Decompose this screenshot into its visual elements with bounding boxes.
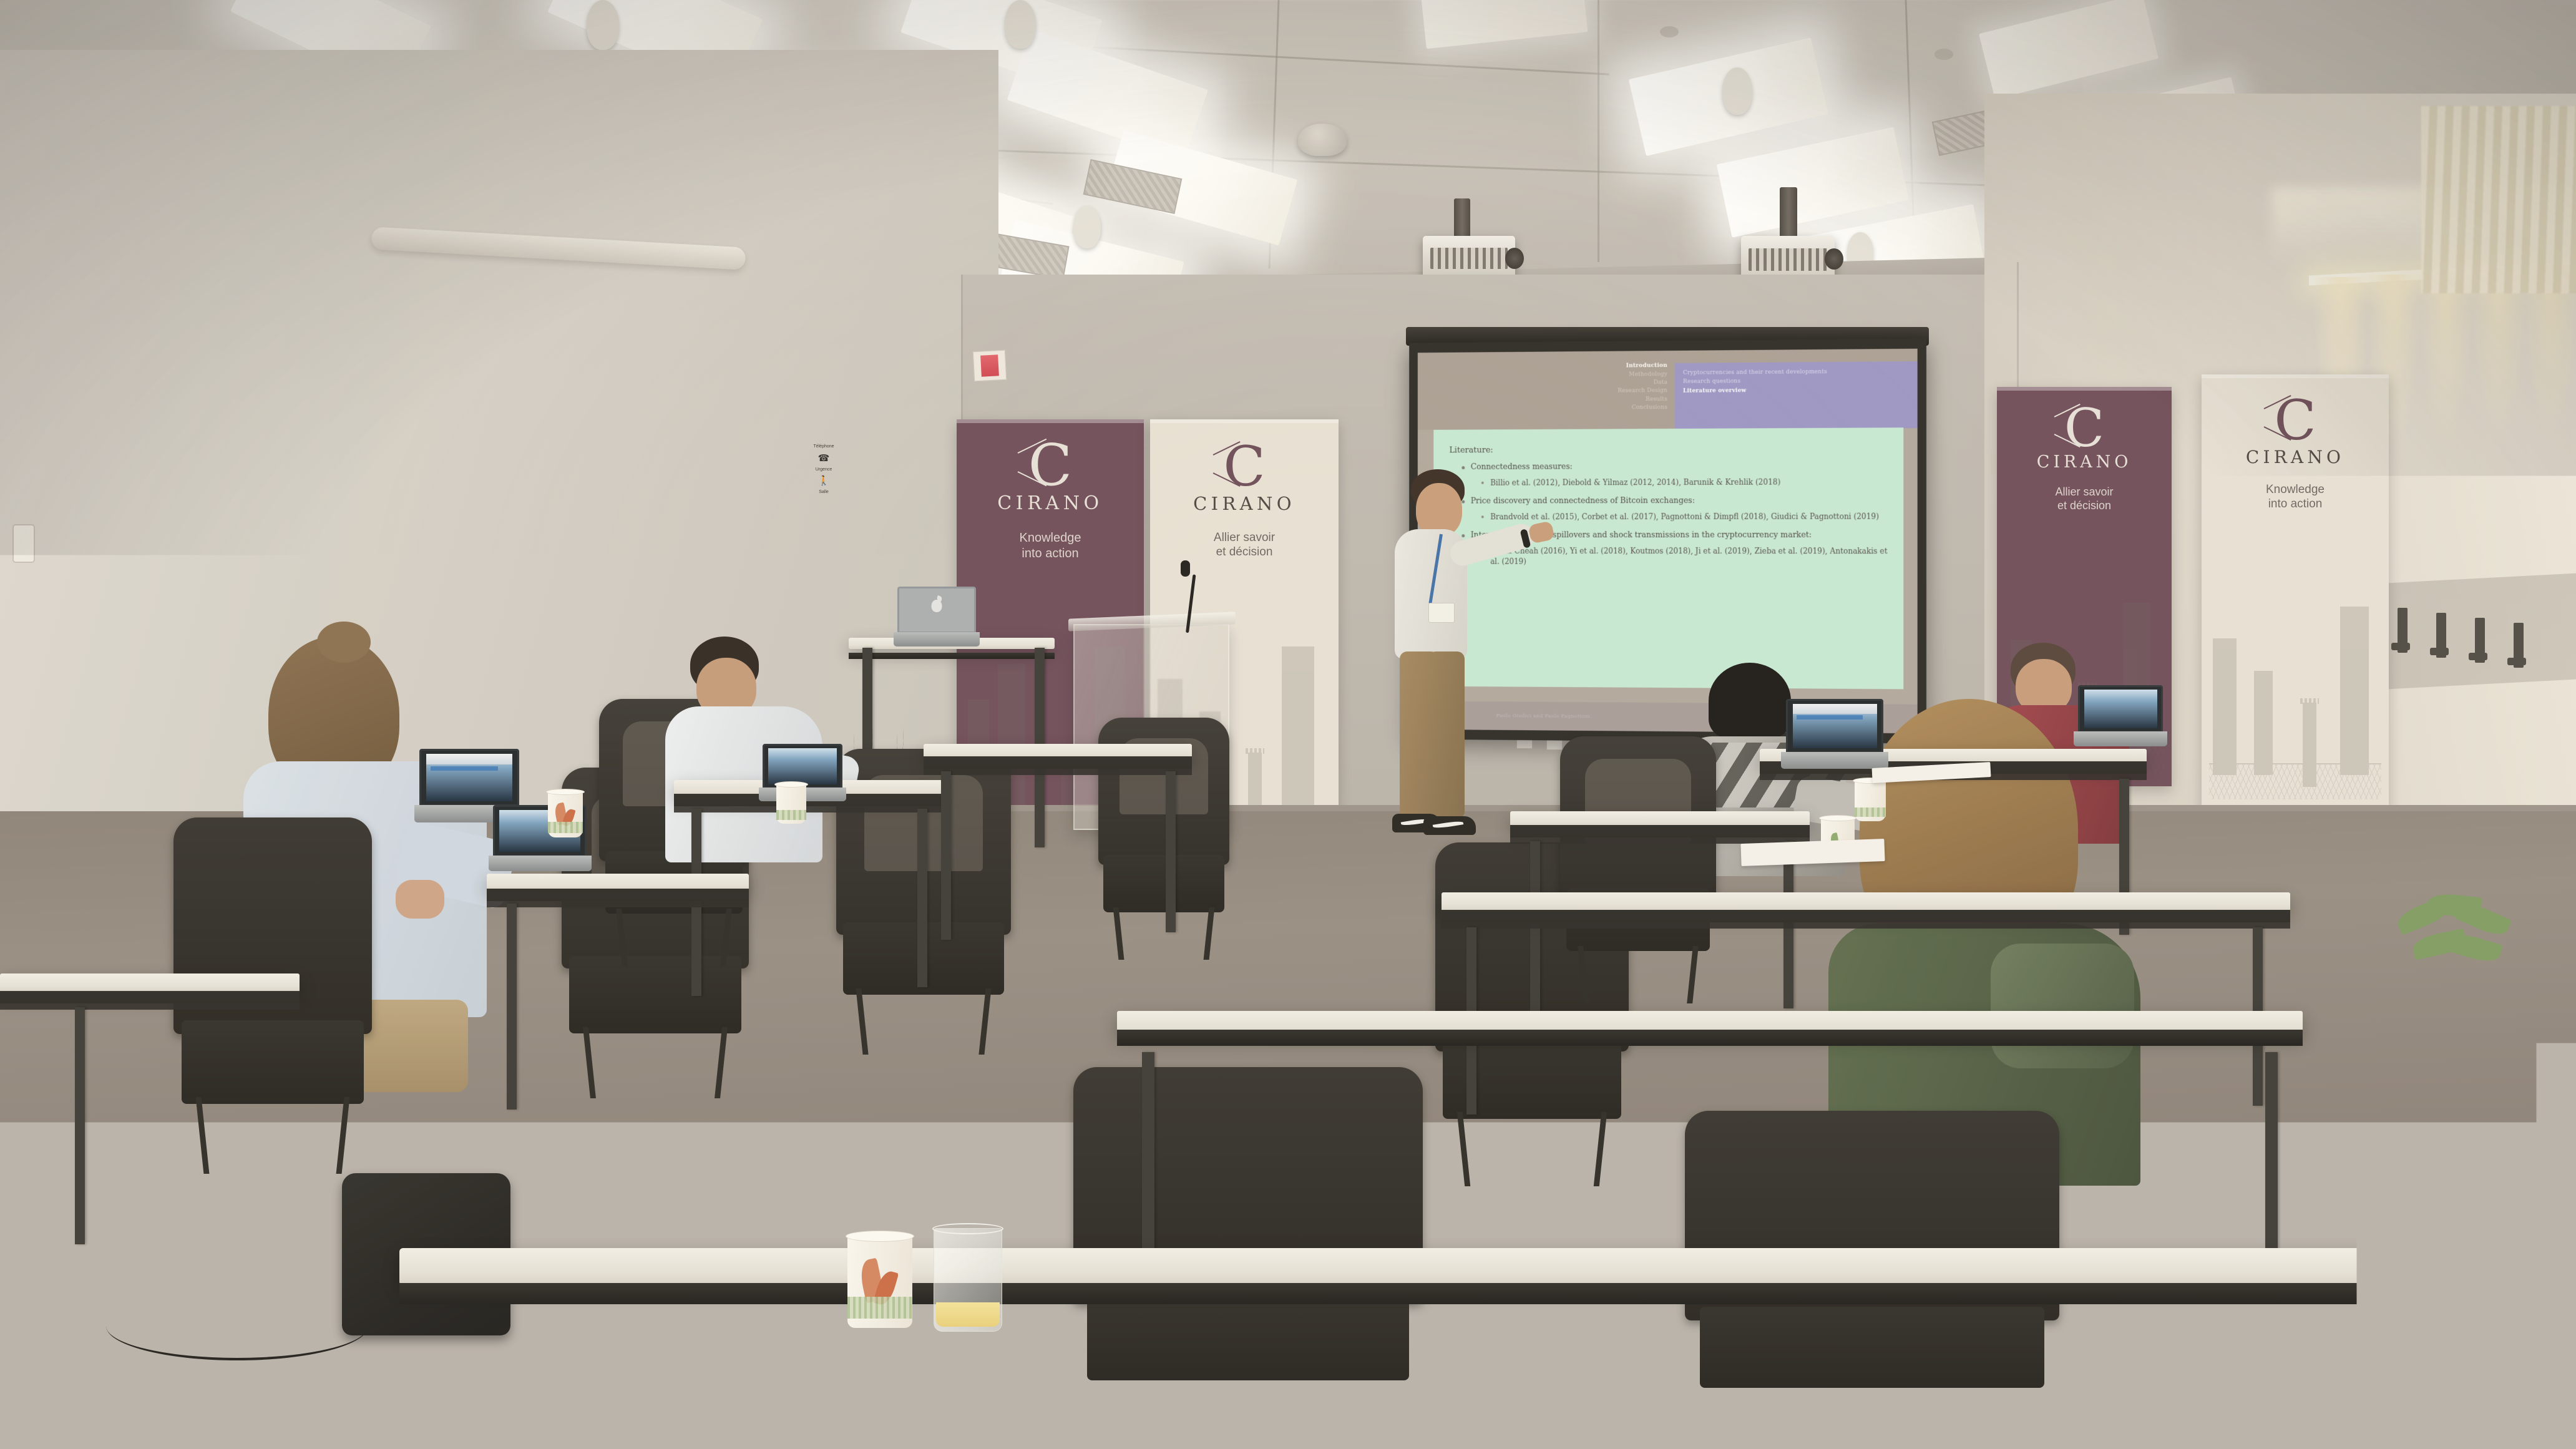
presenter <box>1382 469 1513 856</box>
table-edge <box>1117 1030 2303 1046</box>
banner-tagline-line1: Knowledge <box>957 530 1144 545</box>
banner-rail <box>1997 387 2172 391</box>
slide-nav-item-research-design: Research Design <box>1556 387 1667 396</box>
banner-rail <box>1150 419 1339 423</box>
chair-seat <box>1103 855 1224 912</box>
laptop-screen <box>426 754 513 801</box>
laptop-lid <box>1786 699 1883 753</box>
presenter-badge <box>1428 603 1455 623</box>
table-row-1-right <box>1442 892 2290 912</box>
banner-cityscape <box>2202 610 2389 811</box>
wall-sign-line-1: Téléphone <box>813 444 834 449</box>
ceiling-smoke-detector <box>1660 26 1679 37</box>
chair-legs <box>614 909 734 966</box>
table-leg <box>75 1007 85 1244</box>
ceiling-smoke-detector <box>1934 49 1953 60</box>
laptop-screen <box>2084 690 2157 728</box>
table-leg <box>1530 841 1540 1016</box>
plant-frond <box>2446 930 2503 965</box>
slide-section-nav: Introduction Methodology Data Research D… <box>1556 362 1675 412</box>
paper-cup[interactable] <box>776 784 806 824</box>
cirano-logo-swoosh <box>2264 395 2291 409</box>
foreground-plate[interactable] <box>1026 1303 1263 1385</box>
laptop-screen <box>768 748 837 784</box>
laptop-screen <box>1793 704 1877 749</box>
cirano-logo-icon: C <box>1223 443 1265 490</box>
pendant-bulb <box>1722 67 1752 115</box>
floor-speck <box>1498 1186 1504 1192</box>
thermostat[interactable] <box>12 524 35 563</box>
apple-logo-icon <box>932 600 942 612</box>
table-foreground <box>399 1248 2396 1286</box>
table-leg <box>2265 1052 2278 1258</box>
exit-sign-glyph <box>980 354 999 376</box>
cirano-logo-swoosh <box>2264 426 2291 441</box>
pendant-bulb <box>587 0 619 50</box>
projector-mount <box>1780 187 1797 238</box>
table-apron <box>1442 912 2290 929</box>
banner-tagline-line2: into action <box>2202 497 2389 511</box>
chair-legs <box>580 1027 730 1098</box>
slide-bullet-l2: Billio et al. (2012), Diebold & Yilmaz (… <box>1481 477 1888 489</box>
paper-cup[interactable] <box>1855 780 1886 821</box>
table-row-3-left <box>924 744 1192 759</box>
attendee-laptop-5[interactable] <box>2078 685 2163 746</box>
exit-sign <box>973 350 1007 382</box>
banner-rail <box>957 419 1144 423</box>
chair-seat <box>182 1020 364 1104</box>
chair-legs <box>1576 946 1700 1003</box>
city-building <box>2340 607 2369 775</box>
table-leg <box>1142 1052 1154 1277</box>
window-blinds <box>2421 106 2576 293</box>
table-leg <box>1166 771 1176 932</box>
presenter-macbook[interactable] <box>897 587 976 646</box>
table-apron <box>1510 827 1810 844</box>
ceiling-grid-line <box>1598 0 1599 262</box>
projector-vent <box>1749 248 1827 271</box>
cup-rim <box>546 789 585 795</box>
laptop-base <box>2074 731 2167 746</box>
laptop-base <box>894 632 980 646</box>
slide-bullet-l2: Fry & Cheah (2016), Yi et al. (2018), Ko… <box>1481 546 1888 568</box>
microphone-head[interactable] <box>1181 560 1190 577</box>
cup-band <box>847 1297 912 1319</box>
wall-sign-line-3: Salle <box>819 490 829 495</box>
light-pool <box>2417 272 2475 447</box>
cirano-logo-icon: C <box>1028 441 1072 490</box>
chair-seat <box>1700 1307 2044 1388</box>
laptop-base <box>1781 752 1888 769</box>
cirano-logo-swoosh <box>1017 439 1046 454</box>
juice-liquid <box>936 1302 1000 1327</box>
jacques-cartier-bridge <box>2209 763 2381 799</box>
cup-rim <box>1819 815 1856 821</box>
projector-lens <box>1505 248 1524 269</box>
cup-band <box>1855 807 1886 817</box>
chair-legs <box>1111 907 1216 960</box>
phone-icon: ☎ <box>818 454 830 463</box>
chair-legs <box>193 1097 352 1174</box>
foreground-plastic-cup[interactable] <box>934 1228 1002 1332</box>
banner-tagline-line1: Knowledge <box>2202 482 2389 497</box>
coat-hook[interactable] <box>2514 623 2524 668</box>
light-pool <box>2470 268 2527 443</box>
attendee-shoulder <box>1991 944 2134 1068</box>
cirano-logo-swoosh <box>1213 472 1241 487</box>
slide-nav-item-data: Data <box>1556 379 1667 388</box>
attendee-hand <box>396 880 444 919</box>
maple-leaf-icon <box>1184 1358 1198 1369</box>
slide-subsection-nav: Cryptocurrencies and their recent develo… <box>1675 361 1918 429</box>
banner-tagline-line2: et décision <box>1997 499 2172 513</box>
table-leg <box>507 904 517 1110</box>
chair-back <box>1098 718 1229 865</box>
table-row-1-left <box>487 874 749 891</box>
slide-bullet-l1: Connectedness measures: <box>1461 461 1888 472</box>
slide-bullet-l2: Brandvold et al. (2015), Corbet et al. (… <box>1481 511 1888 522</box>
cup-band <box>776 810 806 819</box>
coat-hook[interactable] <box>2475 618 2485 663</box>
cup-band <box>548 822 583 833</box>
pendant-bulb <box>1073 206 1101 248</box>
cirano-logo-icon: C <box>2064 406 2104 451</box>
slide-nav-item-results: Results <box>1556 396 1667 404</box>
banner-right-cream: C CIRANO Knowledge into action <box>2202 374 2389 811</box>
person-icon: 🚶 <box>818 476 830 485</box>
presenter-shoe <box>1423 816 1476 835</box>
cup-rim <box>774 781 808 788</box>
cup-rim <box>846 1231 914 1242</box>
city-building <box>2254 671 2273 775</box>
paper-cup[interactable] <box>548 791 583 837</box>
laptop-lid <box>2078 685 2163 733</box>
cup-rim <box>932 1223 1003 1234</box>
table-apron <box>487 891 749 907</box>
laptop-lid <box>419 749 519 806</box>
banner-tagline-line2: into action <box>957 546 1144 561</box>
banner-tagline-line1: Allier savoir <box>1150 530 1339 545</box>
ceiling-speaker-dome <box>1298 124 1347 156</box>
city-building <box>1282 646 1314 826</box>
table-leg <box>941 771 951 940</box>
attendee-laptop-4[interactable] <box>1786 699 1883 769</box>
attendee-beanie-hat <box>1709 663 1791 739</box>
potted-plant <box>2390 892 2534 992</box>
table-apron <box>0 993 300 1010</box>
cirano-logo-swoosh <box>1213 441 1241 456</box>
cirano-logo-swoosh <box>1017 471 1046 486</box>
table-row-2-right <box>1510 811 1810 827</box>
projector-mount <box>1454 198 1470 238</box>
city-building <box>2213 638 2237 775</box>
table-edge <box>399 1283 2396 1304</box>
cirano-logo-icon: C <box>2274 397 2316 444</box>
chair-legs <box>1455 1112 1609 1186</box>
table-mid-right <box>1117 1011 2303 1036</box>
slide-nav-item-conclusions: Conclusions <box>1556 404 1667 412</box>
coat-hook[interactable] <box>2398 608 2408 653</box>
chair[interactable] <box>1560 736 1716 998</box>
wall-safety-sign: Téléphone ☎ Urgence 🚶 Salle <box>802 444 846 538</box>
slide-nav-item-introduction: Introduction <box>1556 362 1667 371</box>
chair-seat <box>569 956 741 1034</box>
table-leg <box>917 809 927 987</box>
projector-lens <box>1825 248 1843 270</box>
wall-sign-line-2: Urgence <box>816 467 832 472</box>
cirano-logo-swoosh <box>2054 434 2081 447</box>
banner-tagline-line2: et décision <box>1150 545 1339 559</box>
attendee-hair-bun <box>317 622 371 663</box>
slide-body-title: Literature: <box>1449 444 1888 456</box>
cirano-logo-swoosh <box>2054 404 2081 417</box>
banner-rail <box>2202 374 2389 378</box>
chair-legs <box>854 988 993 1055</box>
conference-room-photo: Téléphone ☎ Urgence 🚶 Salle Introduction… <box>0 0 2576 1449</box>
laptop-lid <box>897 587 976 633</box>
foreground-paper-cup[interactable] <box>847 1236 912 1328</box>
slide-nav-item-methodology: Methodology <box>1556 371 1667 380</box>
slide-subnav-item-literature-overview: Literature overview <box>1683 385 1918 396</box>
table-apron <box>924 759 1192 775</box>
presenter-leg <box>1428 651 1465 819</box>
projector-vent <box>1430 248 1508 270</box>
nike-swoosh-icon <box>1433 820 1463 829</box>
pendant-bulb <box>1005 0 1036 49</box>
table-far-left <box>0 973 300 993</box>
slide-bullet-l1: Price discovery and connectedness of Bit… <box>1461 495 1888 506</box>
laptop-base <box>489 856 592 871</box>
coat-hook[interactable] <box>2436 613 2446 658</box>
banner-tagline-line1: Allier savoir <box>1997 485 2172 499</box>
floor-cable <box>106 1292 368 1360</box>
